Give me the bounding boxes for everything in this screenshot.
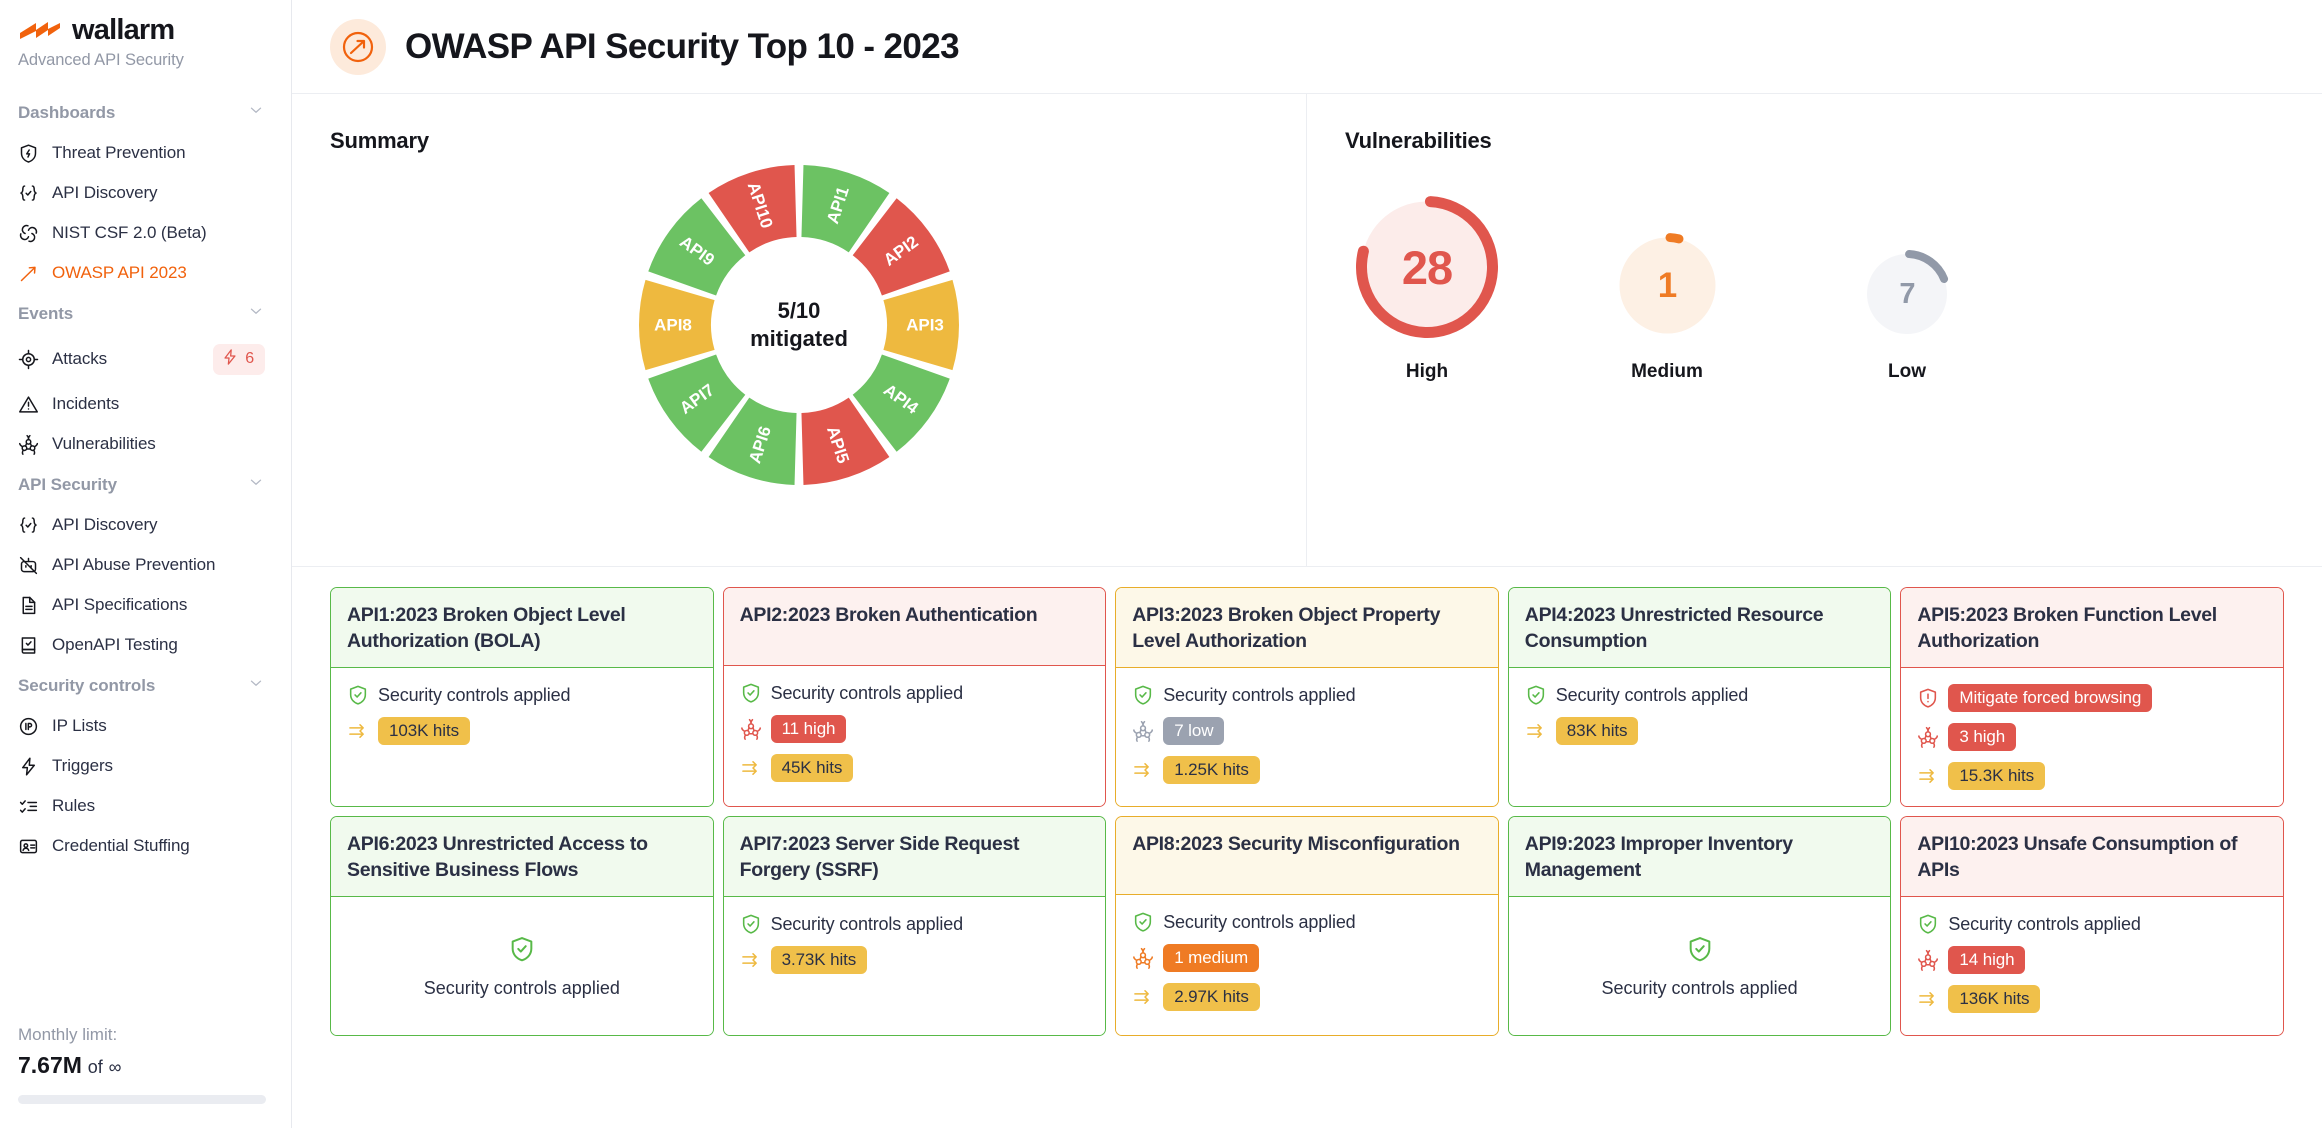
owasp-card-chip-low[interactable]: 7 low xyxy=(1163,717,1224,745)
shield-check-icon xyxy=(740,913,762,935)
owasp-card-metric-row: 103K hits xyxy=(347,717,697,745)
biohazard-icon xyxy=(740,718,762,740)
sidebar-item-label: Credential Stuffing xyxy=(52,836,273,856)
vulnerability-ring-high[interactable]: 28High xyxy=(1307,196,1547,383)
owasp-card-title: API3:2023 Broken Object Property Level A… xyxy=(1116,588,1498,668)
hits-arrows-icon xyxy=(1132,759,1154,781)
owasp-card-metric-row: 45K hits xyxy=(740,754,1090,782)
owasp-card[interactable]: API2:2023 Broken AuthenticationSecurity … xyxy=(723,587,1107,807)
owasp-card-metric-row: 3.73K hits xyxy=(740,946,1090,974)
owasp-card-metric-row: 7 low xyxy=(1132,717,1482,745)
sidebar-item-label: Triggers xyxy=(52,756,273,776)
sidebar-item-label: API Discovery xyxy=(52,515,273,535)
shield-check-icon xyxy=(1686,935,1714,968)
owasp-card[interactable]: API9:2023 Improper Inventory ManagementS… xyxy=(1508,816,1892,1036)
shield-check-icon xyxy=(347,684,369,706)
vulnerability-count: 28 xyxy=(1356,196,1498,338)
sidebar-item-label: OWASP API 2023 xyxy=(52,263,273,283)
hits-arrows-icon xyxy=(1917,988,1939,1010)
monthly-limit: Monthly limit: 7.67M of ∞ xyxy=(18,1025,268,1104)
owasp-card[interactable]: API10:2023 Unsafe Consumption of APIsSec… xyxy=(1900,816,2284,1036)
owasp-card[interactable]: API8:2023 Security MisconfigurationSecur… xyxy=(1115,816,1499,1036)
security-controls-row: Security controls applied xyxy=(347,684,697,706)
owasp-card-body: Security controls applied11 high45K hits xyxy=(724,666,1106,806)
chevron-down-icon[interactable] xyxy=(247,473,265,496)
owasp-card-body: Security controls applied14 high136K hit… xyxy=(1901,897,2283,1035)
page-header: OWASP API Security Top 10 - 2023 xyxy=(292,0,2322,94)
owasp-card-title: API8:2023 Security Misconfiguration xyxy=(1116,817,1498,895)
security-controls-status: Security controls applied xyxy=(1602,976,1798,1000)
vulnerabilities-row: 28High1Medium7Low xyxy=(1307,154,2322,383)
page-title: OWASP API Security Top 10 - 2023 xyxy=(405,27,959,67)
owasp-cards-area: API1:2023 Broken Object Level Authorizat… xyxy=(292,567,2322,1036)
owasp-card[interactable]: API1:2023 Broken Object Level Authorizat… xyxy=(330,587,714,807)
document-icon xyxy=(18,595,39,616)
vulnerability-ring-low[interactable]: 7Low xyxy=(1787,250,2027,383)
sidebar-item-label: API Abuse Prevention xyxy=(52,555,273,575)
sidebar-item-api-discovery[interactable]: API Discovery xyxy=(0,173,291,213)
sidebar-item-owasp-api-2023[interactable]: OWASP API 2023 xyxy=(0,253,291,293)
vulnerability-count: 7 xyxy=(1863,250,1951,338)
vulnerability-count: 1 xyxy=(1615,233,1720,338)
braces-check-icon xyxy=(18,183,39,204)
checklist-icon xyxy=(18,796,39,817)
monthly-limit-progress xyxy=(18,1095,266,1104)
owasp-card-body: Security controls applied83K hits xyxy=(1509,668,1891,806)
owasp-card-title: API2:2023 Broken Authentication xyxy=(724,588,1106,666)
vulnerability-label: Low xyxy=(1787,361,2027,383)
owasp-card-chip-hits[interactable]: 45K hits xyxy=(771,754,854,782)
wallarm-logo-icon xyxy=(18,19,62,43)
security-controls-row: Security controls applied xyxy=(1917,913,2267,935)
sidebar-group-label: Events xyxy=(18,304,73,324)
braces-check-icon xyxy=(18,515,39,536)
sidebar-group-security-controls[interactable]: Security controls xyxy=(0,665,291,706)
sidebar-item-label: API Discovery xyxy=(52,183,273,203)
owasp-card-title: API4:2023 Unrestricted Resource Consumpt… xyxy=(1509,588,1891,668)
biohazard-icon xyxy=(1132,947,1154,969)
sidebar-item-label: Rules xyxy=(52,796,273,816)
owasp-card-metric-row: 1.25K hits xyxy=(1132,756,1482,784)
owasp-card-chip-hits[interactable]: 2.97K hits xyxy=(1163,983,1260,1011)
shield-check-icon xyxy=(1132,684,1154,706)
security-controls-row: Security controls applied xyxy=(740,913,1090,935)
sidebar-group-events[interactable]: Events xyxy=(0,293,291,334)
security-controls-status: Security controls applied xyxy=(1556,685,1748,706)
owasp-card-chip-high[interactable]: 3 high xyxy=(1948,723,2016,751)
owasp-card[interactable]: API6:2023 Unrestricted Access to Sensiti… xyxy=(330,816,714,1036)
security-controls-row: Security controls applied xyxy=(740,682,1090,704)
security-controls-status: Security controls applied xyxy=(1163,685,1355,706)
sidebar-item-ip-lists[interactable]: IP Lists xyxy=(0,706,291,746)
brand-tagline: Advanced API Security xyxy=(18,51,291,70)
sidebar-item-label: OpenAPI Testing xyxy=(52,635,273,655)
sidebar-item-attacks[interactable]: Attacks6 xyxy=(0,334,291,384)
chevron-down-icon[interactable] xyxy=(247,674,265,697)
sidebar-item-api-discovery[interactable]: API Discovery xyxy=(0,505,291,545)
owasp-card-metric-row: Mitigate forced browsing xyxy=(1917,684,2267,712)
shield-check-icon xyxy=(1917,913,1939,935)
owasp-card-metric-row: 2.97K hits xyxy=(1132,983,1482,1011)
sidebar-group-api-security[interactable]: API Security xyxy=(0,464,291,505)
security-controls-row: Security controls applied xyxy=(1132,911,1482,933)
sidebar-item-credential-stuffing[interactable]: Credential Stuffing xyxy=(0,826,291,866)
owasp-card-title: API9:2023 Improper Inventory Management xyxy=(1509,817,1891,897)
brand-name: wallarm xyxy=(72,16,174,45)
owasp-card-title: API1:2023 Broken Object Level Authorizat… xyxy=(331,588,713,668)
hits-arrows-icon xyxy=(740,757,762,779)
owasp-card-metric-row: 11 high xyxy=(740,715,1090,743)
shield-check-icon xyxy=(1132,911,1154,933)
sidebar-nav: DashboardsThreat PreventionAPI Discovery… xyxy=(0,92,291,866)
sidebar-item-label: NIST CSF 2.0 (Beta) xyxy=(52,223,273,243)
shield-check-icon xyxy=(740,682,762,704)
owasp-card-metric-row: 15.3K hits xyxy=(1917,762,2267,790)
security-controls-status: Security controls applied xyxy=(378,685,570,706)
sidebar-item-label: API Specifications xyxy=(52,595,273,615)
sidebar: wallarm Advanced API Security Dashboards… xyxy=(0,0,292,1128)
sidebar-group-label: API Security xyxy=(18,475,117,495)
sidebar-item-label: Vulnerabilities xyxy=(52,434,273,454)
security-controls-status: Security controls applied xyxy=(771,683,963,704)
owasp-card-metric-row: 136K hits xyxy=(1917,985,2267,1013)
monthly-limit-value: 7.67M of ∞ xyxy=(18,1052,268,1079)
chevron-down-icon[interactable] xyxy=(247,101,265,124)
owasp-card-title: API7:2023 Server Side Request Forgery (S… xyxy=(724,817,1106,897)
owasp-card-metric-row: 83K hits xyxy=(1525,717,1875,745)
shield-alert-icon xyxy=(1917,687,1939,709)
nist-pinwheel-icon xyxy=(18,223,39,244)
security-controls-row: Security controls applied xyxy=(1525,684,1875,706)
owasp-card-chip-medium[interactable]: 1 medium xyxy=(1163,944,1259,972)
owasp-card-title: API6:2023 Unrestricted Access to Sensiti… xyxy=(331,817,713,897)
shield-check-icon xyxy=(508,935,536,968)
owasp-card-title: API5:2023 Broken Function Level Authoriz… xyxy=(1901,588,2283,668)
donut-slice-label: API8 xyxy=(654,316,692,335)
sidebar-item-triggers[interactable]: Triggers xyxy=(0,746,291,786)
sidebar-item-api-specifications[interactable]: API Specifications xyxy=(0,585,291,625)
sidebar-group-label: Security controls xyxy=(18,676,155,696)
attacks-count-badge[interactable]: 6 xyxy=(213,344,265,375)
target-icon xyxy=(18,349,39,370)
biohazard-icon xyxy=(18,434,39,455)
security-controls-status: Security controls applied xyxy=(1163,912,1355,933)
sidebar-item-nist-csf-2-0-beta[interactable]: NIST CSF 2.0 (Beta) xyxy=(0,213,291,253)
brand[interactable]: wallarm Advanced API Security xyxy=(0,0,291,70)
owasp-cards-grid: API1:2023 Broken Object Level Authorizat… xyxy=(330,587,2284,1036)
sidebar-group-label: Dashboards xyxy=(18,103,115,123)
owasp-card-body: Security controls applied103K hits xyxy=(331,668,713,806)
owasp-card[interactable]: API4:2023 Unrestricted Resource Consumpt… xyxy=(1508,587,1892,807)
donut-slice-label: API3 xyxy=(906,316,944,335)
owasp-card-body: Security controls applied3.73K hits xyxy=(724,897,1106,1035)
summary-title: Summary xyxy=(292,94,1306,154)
sidebar-group-dashboards[interactable]: Dashboards xyxy=(0,92,291,133)
vulnerability-ring-medium[interactable]: 1Medium xyxy=(1547,233,1787,383)
sidebar-item-vulnerabilities[interactable]: Vulnerabilities xyxy=(0,424,291,464)
owasp-card-chip-hits[interactable]: 15.3K hits xyxy=(1948,762,2045,790)
shield-check-icon xyxy=(1525,684,1547,706)
vulnerability-label: High xyxy=(1307,361,1547,383)
shield-bolt-icon xyxy=(18,143,39,164)
rocket-arrow-icon xyxy=(18,263,39,284)
owasp-card-chip-hits[interactable]: 1.25K hits xyxy=(1163,756,1260,784)
security-controls-status: Security controls applied xyxy=(1948,914,2140,935)
summary-panel: Summary API1API2API3API4API5API6API7API8… xyxy=(292,94,1307,566)
monthly-limit-used: 7.67M xyxy=(18,1052,82,1078)
biohazard-icon xyxy=(1917,949,1939,971)
owasp-card-body: Security controls applied xyxy=(1509,897,1891,1035)
owasp-card-metric-row: 1 medium xyxy=(1132,944,1482,972)
owasp-card-body: Security controls applied7 low1.25K hits xyxy=(1116,668,1498,806)
monthly-limit-label: Monthly limit: xyxy=(18,1025,268,1045)
alert-triangle-icon xyxy=(18,394,39,415)
vulnerability-label: Medium xyxy=(1547,361,1787,383)
sidebar-item-label: IP Lists xyxy=(52,716,273,736)
bolt-icon xyxy=(221,348,239,371)
owasp-card[interactable]: API5:2023 Broken Function Level Authoriz… xyxy=(1900,587,2284,807)
attacks-count-value: 6 xyxy=(245,350,254,368)
owasp-card-title: API10:2023 Unsafe Consumption of APIs xyxy=(1901,817,2283,897)
ip-circle-icon xyxy=(18,716,39,737)
owasp-card-body: Security controls applied1 medium2.97K h… xyxy=(1116,895,1498,1035)
hits-arrows-icon xyxy=(740,949,762,971)
owasp-card-chip-hits[interactable]: 136K hits xyxy=(1948,985,2040,1013)
biohazard-icon xyxy=(1917,726,1939,748)
owasp-card[interactable]: API7:2023 Server Side Request Forgery (S… xyxy=(723,816,1107,1036)
sidebar-item-threat-prevention[interactable]: Threat Prevention xyxy=(0,133,291,173)
sidebar-item-label: Incidents xyxy=(52,394,273,414)
sidebar-item-label: Threat Prevention xyxy=(52,143,273,163)
sidebar-item-rules[interactable]: Rules xyxy=(0,786,291,826)
donut-svg: API1API2API3API4API5API6API7API8API9API1… xyxy=(634,160,964,490)
vulnerabilities-panel: Vulnerabilities 28High1Medium7Low xyxy=(1307,94,2322,566)
monthly-limit-of: of xyxy=(88,1057,103,1077)
hits-arrows-icon xyxy=(1525,720,1547,742)
owasp-card-body: Security controls applied xyxy=(331,897,713,1035)
book-check-icon xyxy=(18,635,39,656)
owasp-card-body: Mitigate forced browsing3 high15.3K hits xyxy=(1901,668,2283,806)
monthly-limit-max: ∞ xyxy=(109,1057,122,1077)
app-root: wallarm Advanced API Security Dashboards… xyxy=(0,0,2322,1128)
bolt-icon xyxy=(18,756,39,777)
hits-arrows-icon xyxy=(1132,986,1154,1008)
security-controls-status: Security controls applied xyxy=(771,914,963,935)
top-panels: Summary API1API2API3API4API5API6API7API8… xyxy=(292,94,2322,567)
sidebar-item-api-abuse-prevention[interactable]: API Abuse Prevention xyxy=(0,545,291,585)
owasp-card-chip-mitigate[interactable]: Mitigate forced browsing xyxy=(1948,684,2152,712)
security-controls-status: Security controls applied xyxy=(424,976,620,1000)
chevron-down-icon[interactable] xyxy=(247,302,265,325)
owasp-card-metric-row: 3 high xyxy=(1917,723,2267,751)
main-content: OWASP API Security Top 10 - 2023 Summary… xyxy=(292,0,2322,1128)
security-controls-row: Security controls applied xyxy=(1132,684,1482,706)
owasp-card-chip-hits[interactable]: 3.73K hits xyxy=(771,946,868,974)
sidebar-item-incidents[interactable]: Incidents xyxy=(0,384,291,424)
biohazard-icon xyxy=(1132,720,1154,742)
owasp-card-chip-high[interactable]: 11 high xyxy=(771,715,847,743)
owasp-card-chip-hits[interactable]: 103K hits xyxy=(378,717,470,745)
owasp-card-chip-high[interactable]: 14 high xyxy=(1948,946,2025,974)
sidebar-item-label: Attacks xyxy=(52,349,200,369)
owasp-donut-chart: API1API2API3API4API5API6API7API8API9API1… xyxy=(292,160,1306,490)
sidebar-item-openapi-testing[interactable]: OpenAPI Testing xyxy=(0,625,291,665)
vulnerabilities-title: Vulnerabilities xyxy=(1307,94,2322,154)
hits-arrows-icon xyxy=(1917,765,1939,787)
owasp-card-chip-hits[interactable]: 83K hits xyxy=(1556,717,1639,745)
bot-off-icon xyxy=(18,555,39,576)
hits-arrows-icon xyxy=(347,720,369,742)
owasp-card-metric-row: 14 high xyxy=(1917,946,2267,974)
owasp-card[interactable]: API3:2023 Broken Object Property Level A… xyxy=(1115,587,1499,807)
rocket-arrow-icon xyxy=(330,19,386,75)
id-card-icon xyxy=(18,836,39,857)
